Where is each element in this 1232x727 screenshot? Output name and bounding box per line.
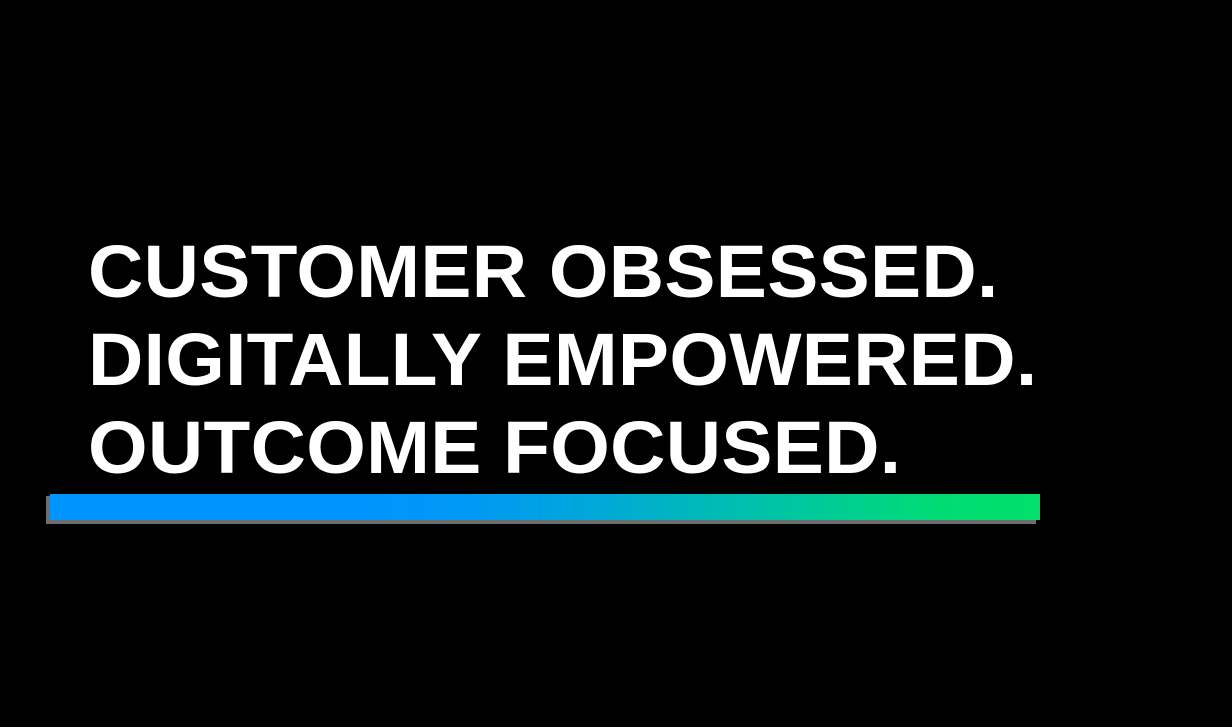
slide-canvas: CUSTOMER OBSESSED. DIGITALLY EMPOWERED. … <box>0 0 1232 727</box>
headline-line-3: OUTCOME FOCUSED. <box>88 404 1185 492</box>
headline-line-2: DIGITALLY EMPOWERED. <box>88 316 1185 404</box>
headline-line-1: CUSTOMER OBSESSED. <box>88 228 1185 316</box>
accent-bar-gradient <box>50 494 1040 520</box>
accent-bar <box>50 494 1040 522</box>
headline-block: CUSTOMER OBSESSED. DIGITALLY EMPOWERED. … <box>88 228 1148 492</box>
